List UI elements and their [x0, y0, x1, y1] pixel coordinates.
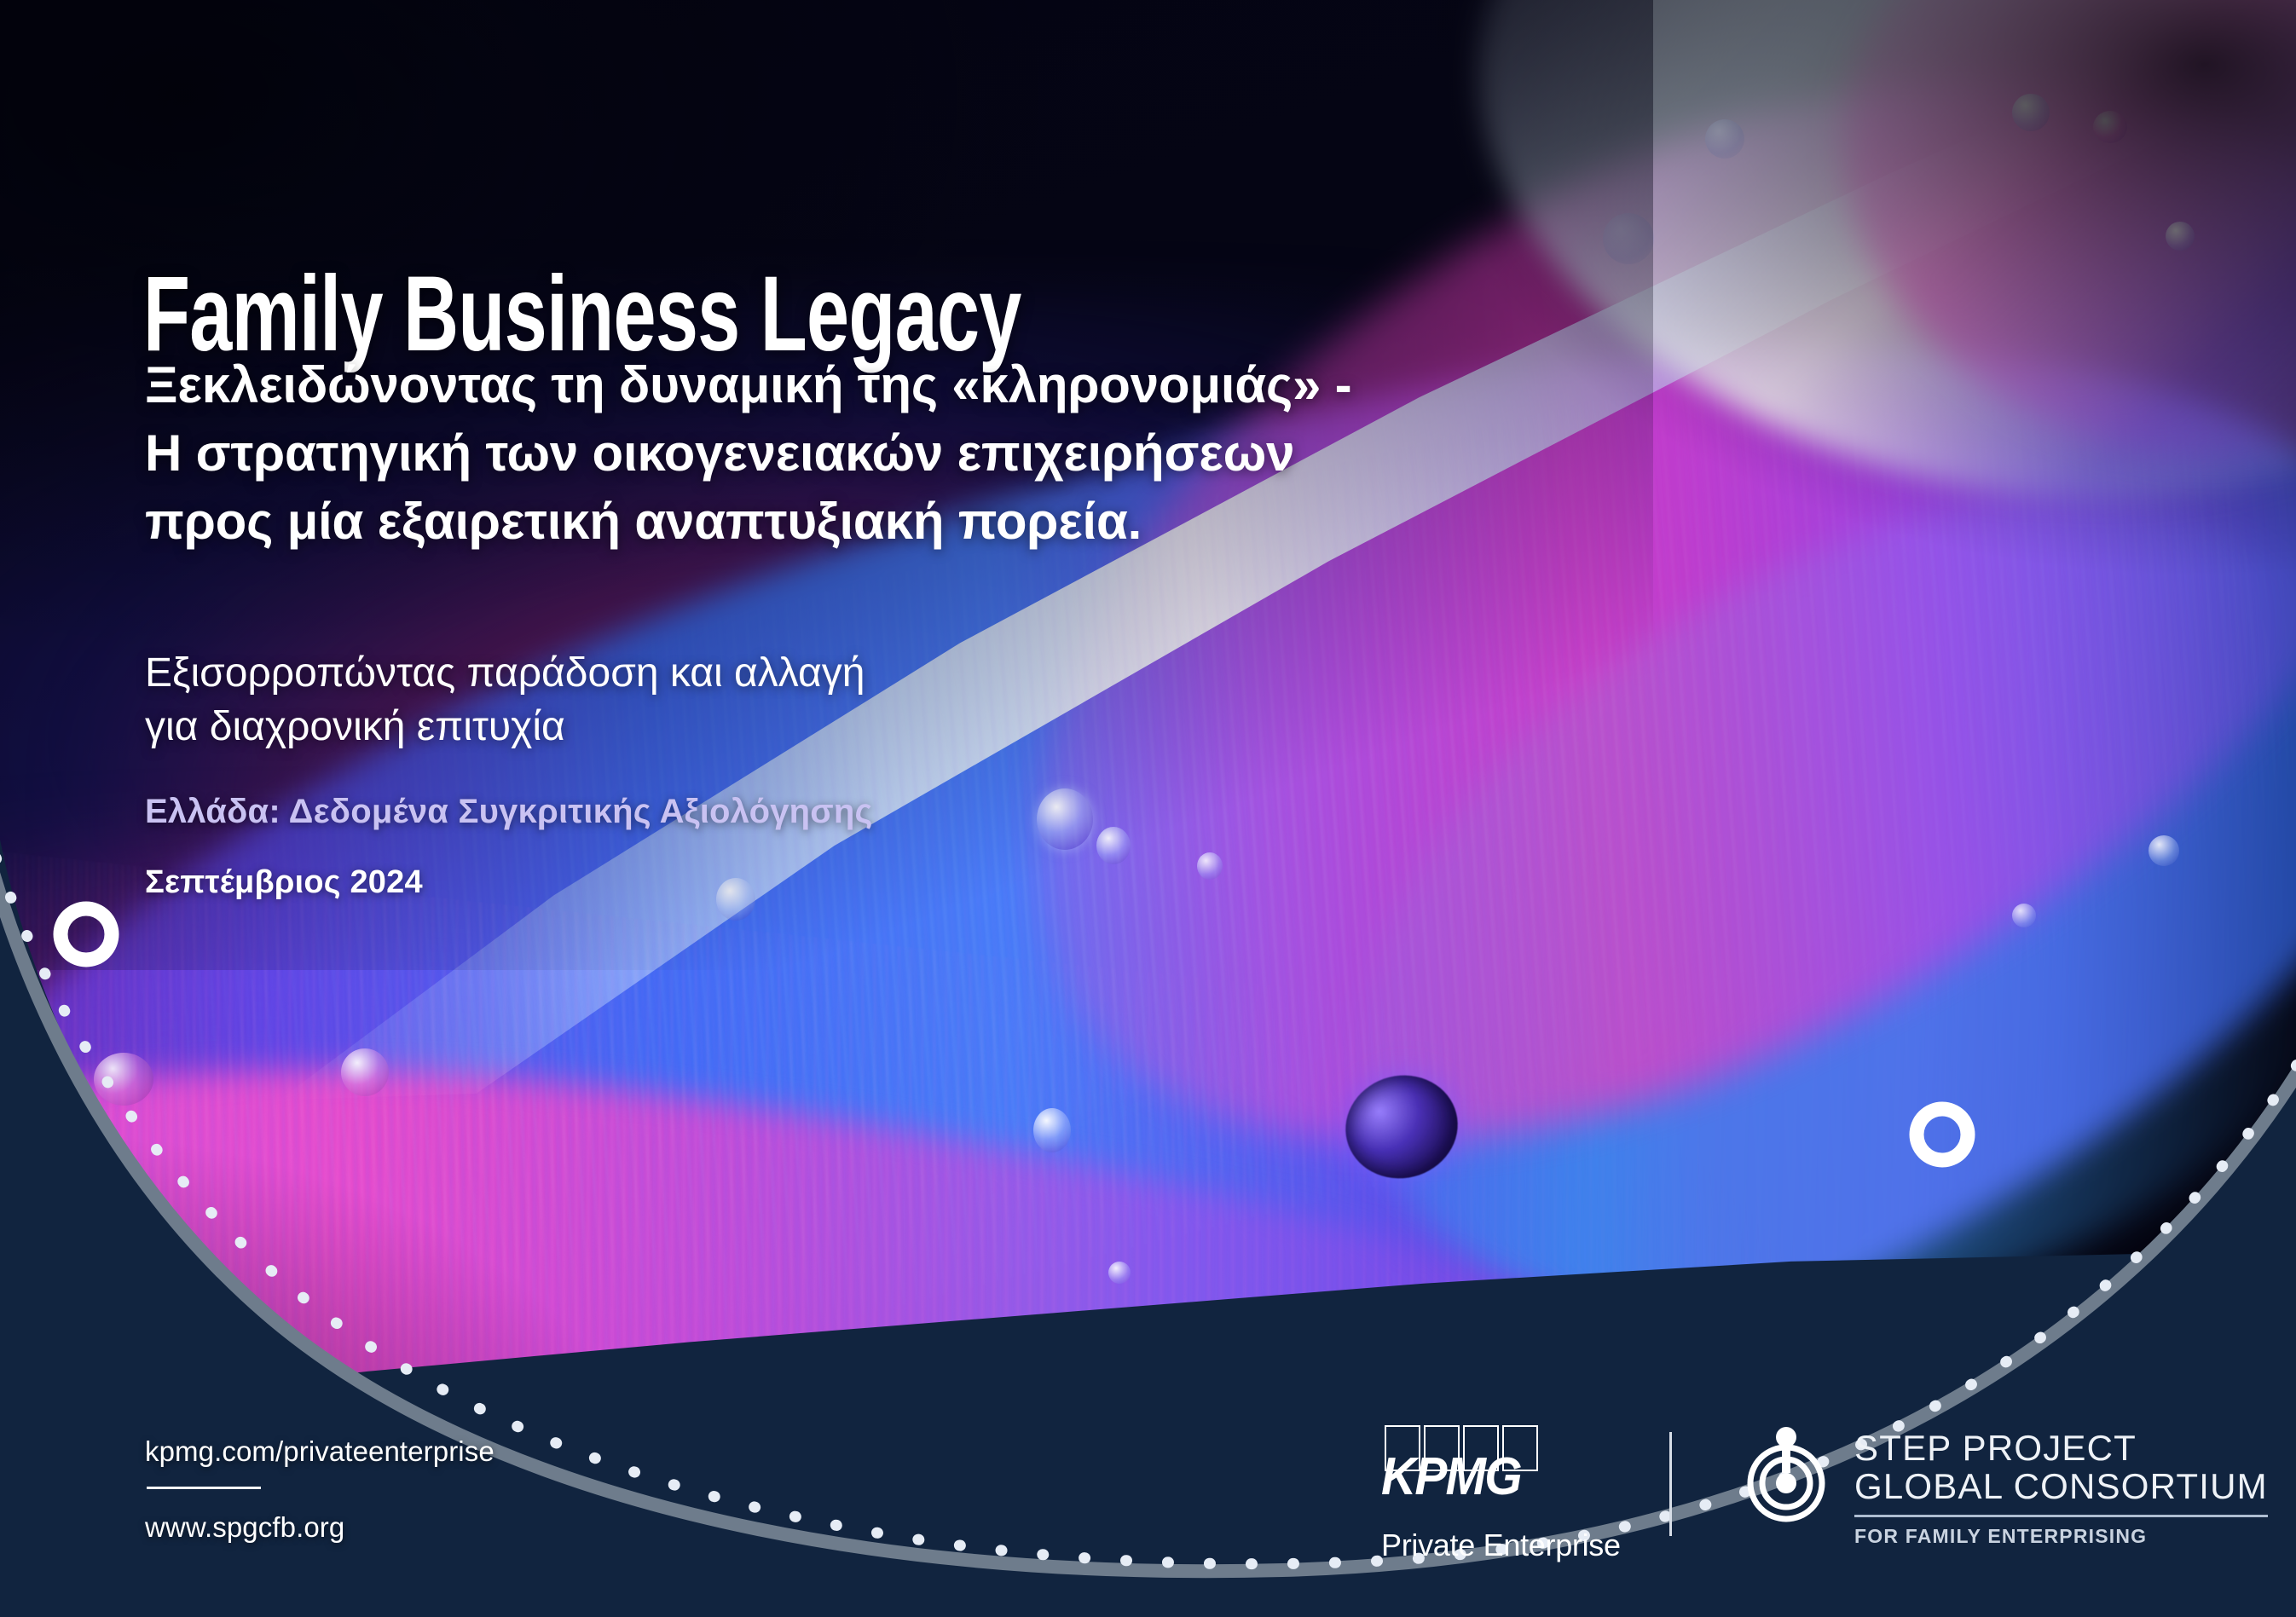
step-line-3: FOR FAMILY ENTERPRISING	[1854, 1525, 2268, 1548]
tagline-line-1: Εξισορροπώντας παράδοση και αλλαγή	[145, 646, 865, 700]
kpmg-logo: KPMG Private Enterprise	[1381, 1425, 1596, 1563]
subtitle-line-2: Η στρατηγική των οικογενειακών επιχειρήσ…	[145, 419, 1351, 488]
link-kpmg-private-enterprise[interactable]: kpmg.com/privateenterprise	[145, 1435, 494, 1468]
kpmg-descriptor: Private Enterprise	[1381, 1527, 1596, 1563]
kpmg-wordmark: KPMG	[1381, 1451, 1521, 1504]
tagline-line-2: για διαχρονική επιτυχία	[145, 700, 865, 754]
step-line-1: STEP PROJECT	[1854, 1429, 2268, 1467]
link-divider-rule	[147, 1487, 261, 1489]
step-project-logo: STEP PROJECT GLOBAL CONSORTIUM FOR FAMIL…	[1738, 1425, 2268, 1548]
publication-date: Σεπτέμβριος 2024	[145, 864, 423, 901]
step-target-icon	[1738, 1427, 1834, 1522]
footer-logo-row: KPMG Private Enterprise STEP PROJECT GLO…	[1381, 1425, 2268, 1563]
footer-links: kpmg.com/privateenterprise www.spgcfb.or…	[145, 1435, 494, 1544]
logo-divider	[1669, 1432, 1672, 1536]
subtitle-line-1: Ξεκλειδώνοντας τη δυναμική της «κληρονομ…	[145, 351, 1351, 419]
region-benchmark-label: Ελλάδα: Δεδομένα Συγκριτικής Αξιολόγησης	[145, 793, 873, 831]
step-logo-rule	[1854, 1515, 2268, 1517]
tagline-block: Εξισορροπώντας παράδοση και αλλαγή για δ…	[145, 646, 865, 754]
link-spgcfb[interactable]: www.spgcfb.org	[145, 1511, 494, 1544]
step-line-2: GLOBAL CONSORTIUM	[1854, 1467, 2268, 1505]
cover-page: Family Business Legacy Ξεκλειδώνοντας τη…	[0, 0, 2296, 1617]
subtitle-block: Ξεκλειδώνοντας τη δυναμική της «κληρονομ…	[145, 351, 1351, 555]
subtitle-line-3: προς μία εξαιρετική αναπτυξιακή πορεία.	[145, 488, 1351, 556]
